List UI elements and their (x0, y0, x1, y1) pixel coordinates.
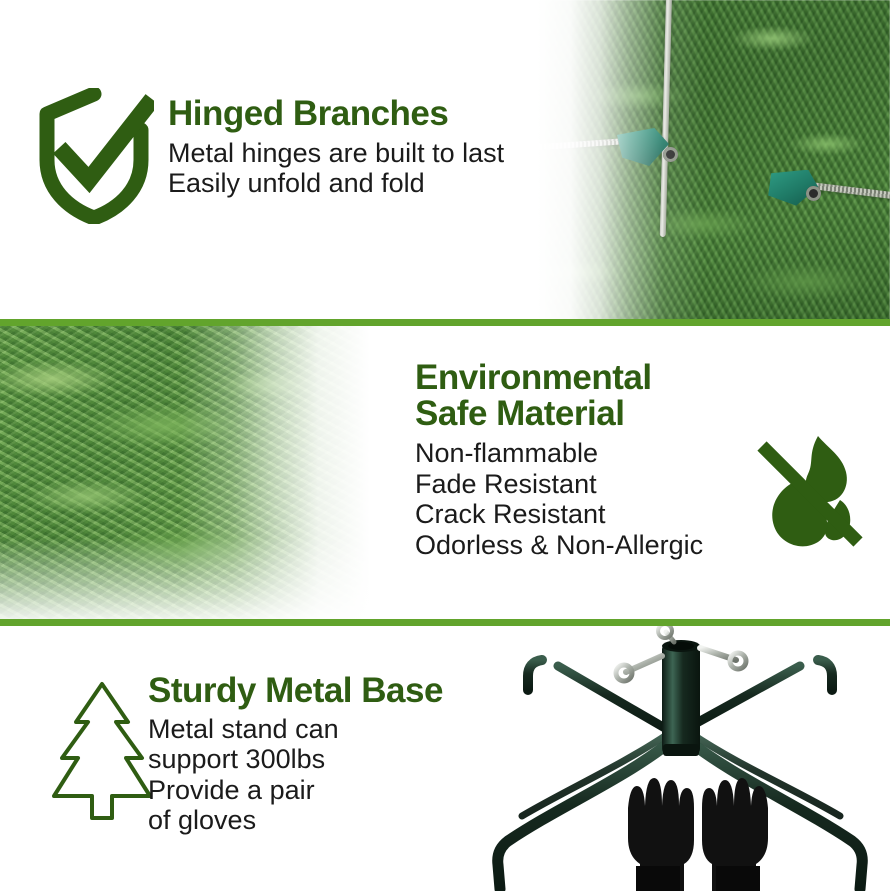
christmas-tree-outline-icon (46, 678, 158, 823)
section-heading-environmental-line-1: Environmental (415, 360, 703, 396)
section-heading-hinged-branches: Hinged Branches (168, 96, 504, 132)
section-divider-1 (0, 319, 890, 326)
product-feature-infographic: Hinged Branches Metal hinges are built t… (0, 0, 890, 891)
section-divider-2 (0, 619, 890, 626)
section-sturdy-metal-base: Sturdy Metal Base Metal stand can suppor… (0, 626, 890, 891)
tree-branch-hinge-closeup-photo (470, 0, 890, 320)
no-flame-icon (756, 430, 866, 560)
body-line: Provide a pair (148, 775, 443, 806)
body-line: Odorless & Non-Allergic (415, 530, 703, 561)
body-line: support 300lbs (148, 744, 443, 775)
photo-white-fade-overlay (470, 0, 890, 320)
hinged-branches-body: Metal hinges are built to last Easily un… (168, 138, 504, 199)
gloves-pair (628, 778, 768, 891)
environmental-text-block: Environmental Safe Material Non-flammabl… (415, 360, 703, 560)
photo-bottom-fade-overlay (0, 326, 430, 620)
body-line: Fade Resistant (415, 469, 703, 500)
section-heading-environmental-line-2: Safe Material (415, 396, 703, 432)
body-line: Metal hinges are built to last (168, 138, 504, 169)
stand-center-post (662, 640, 700, 756)
artificial-tree-foliage-photo (0, 326, 430, 620)
hinged-branches-text-block: Hinged Branches Metal hinges are built t… (168, 96, 504, 199)
section-heading-sturdy-metal-base: Sturdy Metal Base (148, 673, 443, 709)
body-line: of gloves (148, 805, 443, 836)
shield-check-icon (34, 88, 154, 224)
section-environmental-safe-material: Environmental Safe Material Non-flammabl… (0, 326, 890, 620)
folding-metal-tree-stand-with-gloves-photo (470, 626, 890, 891)
body-line: Non-flammable (415, 438, 703, 469)
body-line: Crack Resistant (415, 499, 703, 530)
sturdy-metal-base-body: Metal stand can support 300lbs Provide a… (148, 714, 443, 836)
sturdy-metal-base-text-block: Sturdy Metal Base Metal stand can suppor… (148, 673, 443, 836)
body-line: Easily unfold and fold (168, 168, 504, 199)
environmental-body: Non-flammable Fade Resistant Crack Resis… (415, 438, 703, 560)
body-line: Metal stand can (148, 714, 443, 745)
section-hinged-branches: Hinged Branches Metal hinges are built t… (0, 0, 890, 320)
